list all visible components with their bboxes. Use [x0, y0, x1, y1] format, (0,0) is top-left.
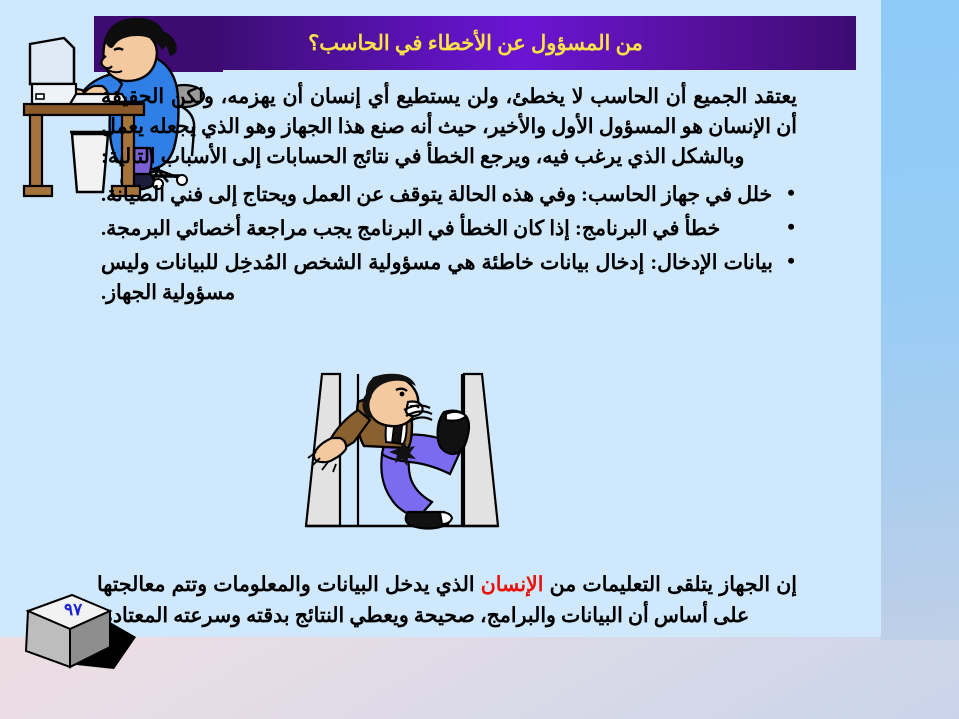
list-item: بيانات الإدخال: إدخال بيانات خاطئة هي مس… [101, 248, 797, 308]
bullet-body-text: إذا كان الخطأ في البرنامج يجب مراجعة أخص… [101, 218, 575, 240]
bullet-body-text: وفي هذه الحالة يتوقف عن العمل ويحتاج إلى… [101, 184, 581, 206]
intro-paragraph: يعتقد الجميع أن الحاسب لا يخطئ، ولن يستط… [101, 82, 797, 172]
bullet-lead-label: بيانات الإدخال: [650, 252, 773, 274]
angry-man-kicking-clipart [292, 372, 514, 550]
presentation-slide: تطور، تقنية، مستقبل الحاسب الآلي من المس… [0, 0, 959, 719]
slide-body-text: يعتقد الجميع أن الحاسب لا يخطئ، ولن يستط… [101, 82, 797, 312]
bullet-body-text: إدخال بيانات خاطئة هي مسؤولية الشخص المُ… [101, 252, 650, 304]
slide-number-block: ٩٧ [22, 587, 142, 677]
list-item: خطأ في البرنامج: إذا كان الخطأ في البرنا… [101, 214, 797, 244]
bullet-lead-label: خلل في جهاز الحاسب: [581, 184, 772, 206]
slide-content-panel: من المسؤول عن الأخطاء في الحاسب؟ [0, 0, 881, 637]
closing-paragraph: إن الجهاز يتلقى التعليمات من الإنسان الذ… [97, 570, 797, 632]
closing-text-part-1: إن الجهاز يتلقى التعليمات من [543, 574, 797, 596]
causes-bullet-list: خلل في جهاز الحاسب: وفي هذه الحالة يتوقف… [101, 180, 797, 308]
closing-highlight-word: الإنسان [481, 574, 544, 596]
bullet-lead-label: خطأ في البرنامج: [575, 218, 720, 240]
slide-side-band: تطور، تقنية، مستقبل الحاسب الآلي [880, 0, 959, 640]
list-item: خلل في جهاز الحاسب: وفي هذه الحالة يتوقف… [101, 180, 797, 210]
slide-number-text: ٩٧ [64, 600, 82, 620]
